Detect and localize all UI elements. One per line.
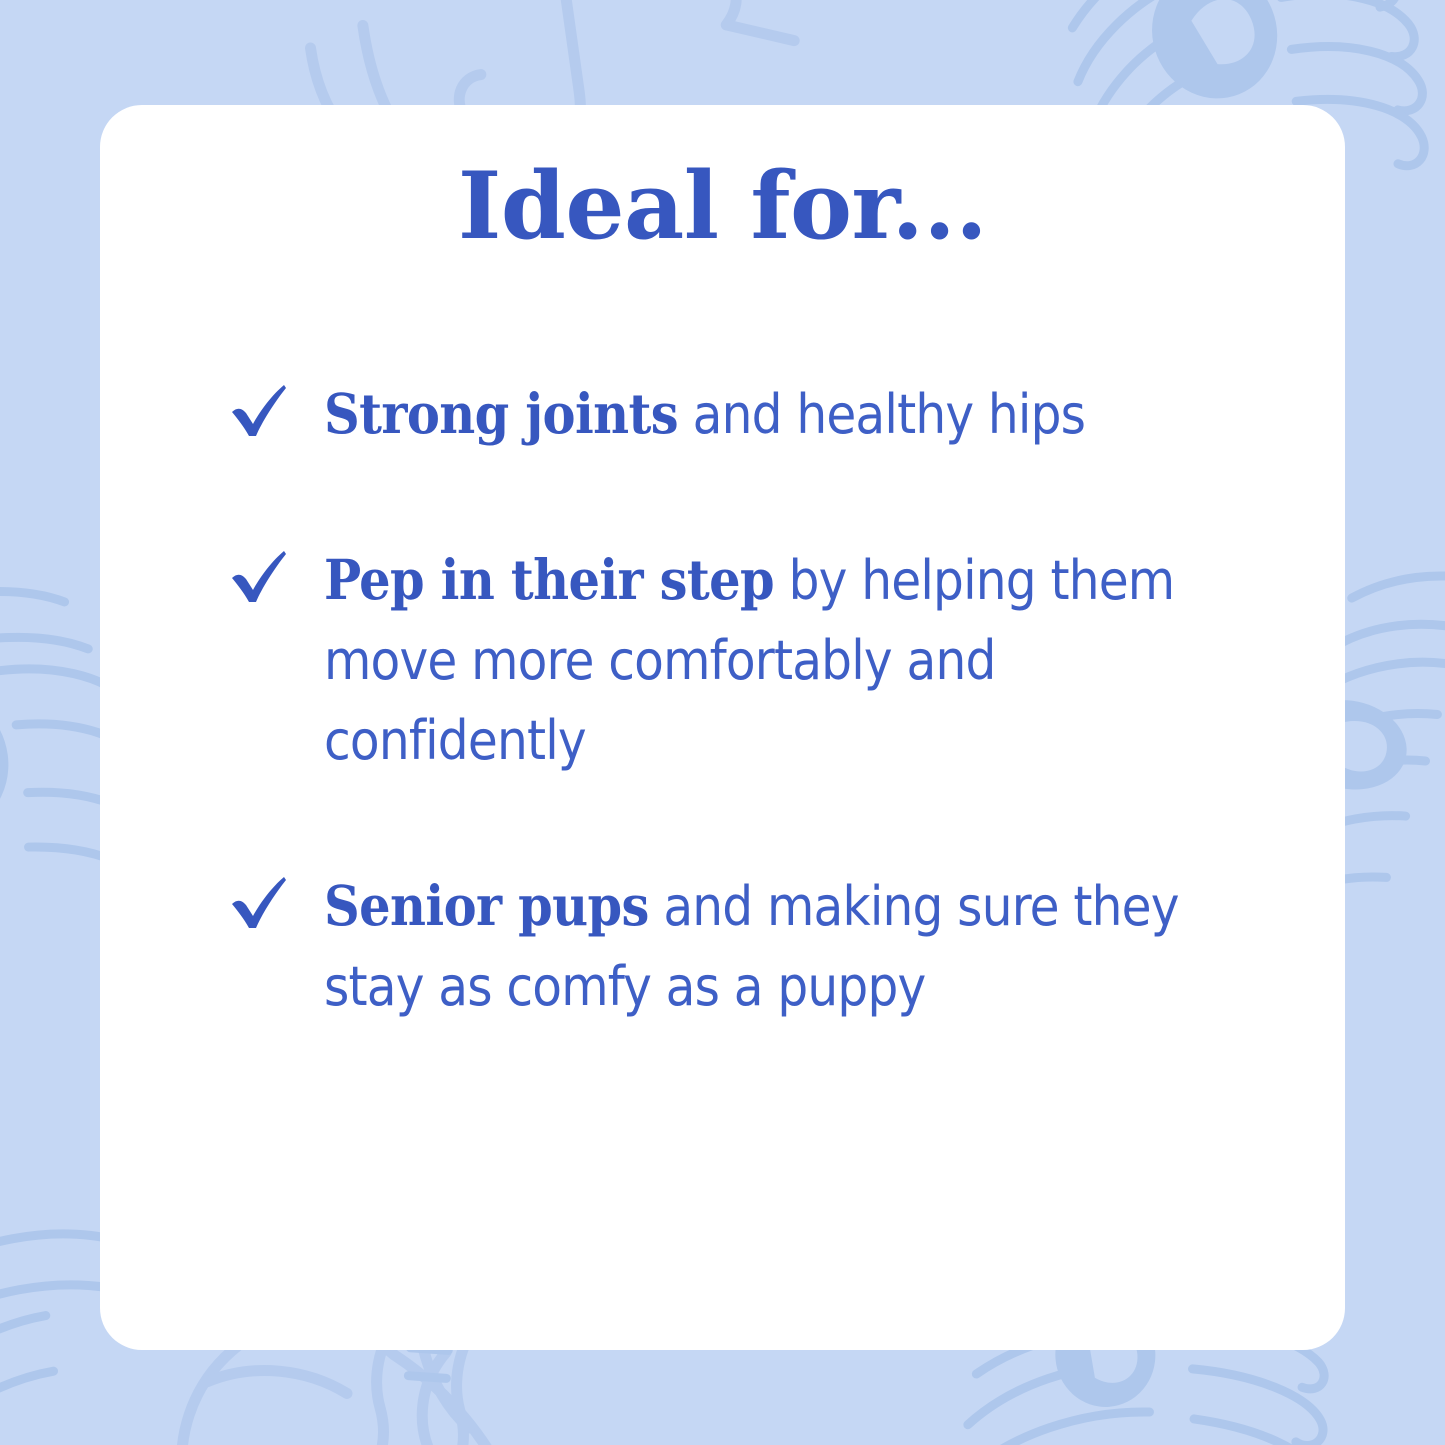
check-cell	[228, 373, 324, 441]
promo-card-stage: Ideal for... Strong joints and healthy h…	[0, 0, 1445, 1445]
check-icon	[228, 379, 324, 441]
benefit-item: Pep in their step by helping them move m…	[228, 539, 1228, 781]
check-cell	[228, 539, 324, 607]
benefit-rest: and healthy hips	[678, 383, 1085, 446]
content-card: Ideal for... Strong joints and healthy h…	[100, 105, 1345, 1350]
page-title: Ideal for...	[100, 157, 1345, 255]
benefit-item: Senior pups and making sure they stay as…	[228, 865, 1228, 1027]
benefit-item: Strong joints and healthy hips	[228, 373, 1228, 455]
benefit-text: Pep in their step by helping them move m…	[324, 539, 1228, 781]
benefit-text: Strong joints and healthy hips	[324, 373, 1228, 455]
benefit-lead: Senior pups	[324, 873, 649, 938]
check-cell	[228, 865, 324, 933]
check-icon	[228, 871, 324, 933]
benefit-lead: Strong joints	[324, 381, 678, 446]
benefit-lead: Pep in their step	[324, 547, 774, 612]
benefit-text: Senior pups and making sure they stay as…	[324, 865, 1228, 1027]
check-icon	[228, 545, 324, 607]
benefit-list: Strong joints and healthy hips Pep in th…	[228, 373, 1228, 1026]
